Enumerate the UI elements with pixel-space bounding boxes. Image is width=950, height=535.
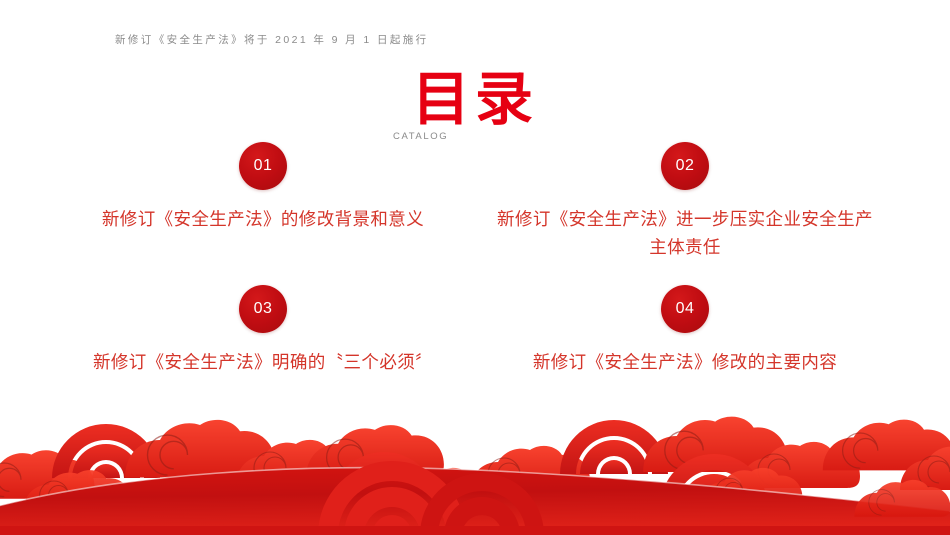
slide-root: 新修订《安全生产法》将于 2021 年 9 月 1 日起施行 目录 CATALO… [0, 0, 950, 535]
title-block: 目录 CATALOG [0, 70, 950, 150]
page-subtitle: CATALOG [393, 132, 448, 142]
catalog-item-label: 新修订《安全生产法》的修改背景和意义 [68, 206, 458, 234]
catalog-item-label: 新修订《安全生产法》进一步压实企业安全生产主体责任 [490, 206, 880, 263]
catalog-item-04[interactable]: 04 新修订《安全生产法》修改的主要内容 [490, 285, 880, 377]
catalog-item-label: 新修订《安全生产法》修改的主要内容 [490, 349, 880, 377]
catalog-badge-number: 02 [676, 158, 695, 174]
catalog-item-01[interactable]: 01 新修订《安全生产法》的修改背景和意义 [68, 142, 458, 234]
catalog-item-label: 新修订《安全生产法》明确的〝三个必须〞 [68, 349, 458, 377]
catalog-badge-number: 01 [254, 158, 273, 174]
catalog-item-03[interactable]: 03 新修订《安全生产法》明确的〝三个必须〞 [68, 285, 458, 377]
page-title: 目录 [412, 70, 538, 128]
header-note: 新修订《安全生产法》将于 2021 年 9 月 1 日起施行 [115, 34, 429, 47]
catalog-badge-01: 01 [239, 142, 287, 190]
catalog-badge-number: 04 [676, 301, 695, 317]
catalog-badge-02: 02 [661, 142, 709, 190]
catalog-item-02[interactable]: 02 新修订《安全生产法》进一步压实企业安全生产主体责任 [490, 142, 880, 263]
catalog-badge-number: 03 [254, 301, 273, 317]
catalog-badge-04: 04 [661, 285, 709, 333]
catalog-badge-03: 03 [239, 285, 287, 333]
catalog-list: 01 新修订《安全生产法》的修改背景和意义 02 新修订《安全生产法》进一步压实… [0, 142, 950, 422]
